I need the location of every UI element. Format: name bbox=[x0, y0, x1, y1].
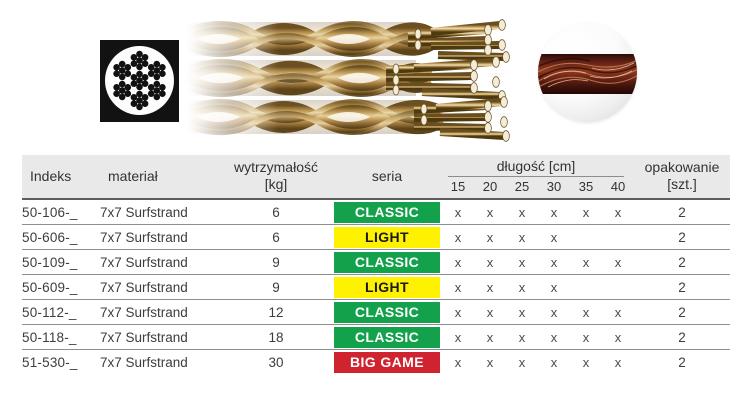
header-length-tick-30: 30 bbox=[538, 179, 570, 194]
length-mark-empty bbox=[570, 230, 602, 245]
cell-material: 7x7 Surfstrand bbox=[100, 225, 220, 250]
header-series: seria bbox=[332, 155, 442, 199]
cross-section-strands-icon bbox=[100, 40, 179, 122]
cell-material: 7x7 Surfstrand bbox=[100, 199, 220, 225]
length-mark-available: x bbox=[474, 330, 506, 345]
cell-index: 51-530-_ bbox=[22, 350, 100, 375]
length-mark-available: x bbox=[538, 330, 570, 345]
cell-series: CLASSIC bbox=[332, 199, 442, 225]
cell-packaging: 2 bbox=[634, 199, 730, 225]
length-mark-empty bbox=[570, 280, 602, 295]
series-badge: CLASSIC bbox=[334, 302, 440, 323]
cell-material: 7x7 Surfstrand bbox=[100, 325, 220, 350]
cell-packaging: 2 bbox=[634, 275, 730, 300]
cell-packaging: 2 bbox=[634, 300, 730, 325]
length-availability-row: xxxx bbox=[442, 280, 634, 295]
length-mark-available: x bbox=[538, 305, 570, 320]
cell-series: LIGHT bbox=[332, 225, 442, 250]
header-length-title: długość [cm] bbox=[448, 155, 624, 177]
table-row: 51-530-_7x7 Surfstrand30BIG GAMExxxxxx2 bbox=[22, 350, 730, 375]
cell-strength: 18 bbox=[220, 325, 332, 350]
cell-index: 50-609-_ bbox=[22, 275, 100, 300]
length-mark-available: x bbox=[506, 205, 538, 220]
length-mark-available: x bbox=[474, 230, 506, 245]
length-mark-available: x bbox=[442, 205, 474, 220]
cell-series: CLASSIC bbox=[332, 325, 442, 350]
length-mark-available: x bbox=[442, 280, 474, 295]
series-badge: CLASSIC bbox=[334, 202, 440, 223]
cell-series: LIGHT bbox=[332, 275, 442, 300]
cell-lengths: xxxxxx bbox=[442, 350, 634, 375]
header-packaging: opakowanie [szt.] bbox=[634, 155, 730, 199]
cell-index: 50-106-_ bbox=[22, 199, 100, 225]
braided-rope-illustration bbox=[186, 12, 516, 148]
cell-strength: 30 bbox=[220, 350, 332, 375]
cell-lengths: xxxxxx bbox=[442, 250, 634, 275]
cell-material: 7x7 Surfstrand bbox=[100, 300, 220, 325]
hero-image-band bbox=[0, 0, 750, 152]
table-row: 50-118-_7x7 Surfstrand18CLASSICxxxxxx2 bbox=[22, 325, 730, 350]
header-length-ticks: 15 20 25 30 35 40 bbox=[442, 177, 634, 198]
length-mark-available: x bbox=[538, 355, 570, 370]
cell-lengths: xxxxxx bbox=[442, 199, 634, 225]
length-availability-row: xxxx bbox=[442, 230, 634, 245]
length-mark-available: x bbox=[506, 305, 538, 320]
length-mark-available: x bbox=[570, 255, 602, 270]
length-mark-available: x bbox=[506, 280, 538, 295]
length-mark-available: x bbox=[538, 205, 570, 220]
cell-series: CLASSIC bbox=[332, 300, 442, 325]
table-row: 50-609-_7x7 Surfstrand9LIGHTxxxx2 bbox=[22, 275, 730, 300]
series-badge: CLASSIC bbox=[334, 327, 440, 348]
table-row: 50-109-_7x7 Surfstrand9CLASSICxxxxxx2 bbox=[22, 250, 730, 275]
length-mark-available: x bbox=[538, 230, 570, 245]
length-mark-available: x bbox=[602, 255, 634, 270]
header-strength: wytrzymałość [kg] bbox=[220, 155, 332, 199]
length-mark-available: x bbox=[474, 305, 506, 320]
cell-strength: 12 bbox=[220, 300, 332, 325]
wire-closeup-band bbox=[538, 54, 637, 94]
length-mark-available: x bbox=[442, 255, 474, 270]
length-mark-available: x bbox=[474, 355, 506, 370]
cell-packaging: 2 bbox=[634, 350, 730, 375]
header-index: Indeks bbox=[22, 155, 100, 199]
length-mark-available: x bbox=[570, 305, 602, 320]
cell-material: 7x7 Surfstrand bbox=[100, 275, 220, 300]
table-row: 50-106-_7x7 Surfstrand6CLASSICxxxxxx2 bbox=[22, 199, 730, 225]
cell-lengths: xxxxxx bbox=[442, 300, 634, 325]
header-packaging-line1: opakowanie bbox=[645, 159, 720, 175]
series-badge: CLASSIC bbox=[334, 252, 440, 273]
length-availability-row: xxxxxx bbox=[442, 330, 634, 345]
cell-index: 50-118-_ bbox=[22, 325, 100, 350]
length-mark-empty bbox=[602, 230, 634, 245]
length-mark-available: x bbox=[570, 355, 602, 370]
header-series-label: seria bbox=[332, 164, 442, 190]
length-mark-available: x bbox=[506, 230, 538, 245]
header-length-tick-40: 40 bbox=[602, 179, 634, 194]
length-availability-row: xxxxxx bbox=[442, 355, 634, 370]
length-mark-available: x bbox=[474, 255, 506, 270]
length-mark-available: x bbox=[506, 355, 538, 370]
header-length-group: długość [cm] 15 20 25 30 35 40 bbox=[442, 155, 634, 199]
header-packaging-line2: [szt.] bbox=[667, 176, 697, 192]
series-badge: LIGHT bbox=[334, 277, 440, 298]
length-mark-available: x bbox=[538, 255, 570, 270]
cell-index: 50-109-_ bbox=[22, 250, 100, 275]
cell-material: 7x7 Surfstrand bbox=[100, 350, 220, 375]
cell-index: 50-606-_ bbox=[22, 225, 100, 250]
header-length-tick-35: 35 bbox=[570, 179, 602, 194]
header-index-label: Indeks bbox=[22, 164, 100, 190]
cell-strength: 6 bbox=[220, 199, 332, 225]
wire-closeup-photo-inset bbox=[538, 23, 637, 122]
cell-series: BIG GAME bbox=[332, 350, 442, 375]
length-mark-empty bbox=[602, 280, 634, 295]
header-packaging-label: opakowanie [szt.] bbox=[634, 155, 730, 197]
cell-packaging: 2 bbox=[634, 250, 730, 275]
length-mark-available: x bbox=[602, 305, 634, 320]
length-mark-available: x bbox=[506, 330, 538, 345]
header-strength-label: wytrzymałość [kg] bbox=[220, 155, 332, 197]
length-mark-available: x bbox=[602, 205, 634, 220]
cell-strength: 9 bbox=[220, 275, 332, 300]
header-length-tick-20: 20 bbox=[474, 179, 506, 194]
length-mark-available: x bbox=[602, 330, 634, 345]
length-availability-row: xxxxxx bbox=[442, 255, 634, 270]
length-mark-available: x bbox=[442, 305, 474, 320]
length-mark-available: x bbox=[570, 205, 602, 220]
length-mark-available: x bbox=[442, 330, 474, 345]
table-header-row: Indeks materiał wytrzymałość [kg] seria bbox=[22, 155, 730, 199]
length-availability-row: xxxxxx bbox=[442, 205, 634, 220]
table-row: 50-112-_7x7 Surfstrand12CLASSICxxxxxx2 bbox=[22, 300, 730, 325]
table-body: 50-106-_7x7 Surfstrand6CLASSICxxxxxx250-… bbox=[22, 199, 730, 374]
length-mark-available: x bbox=[506, 255, 538, 270]
length-mark-available: x bbox=[538, 280, 570, 295]
header-strength-line2: [kg] bbox=[265, 176, 288, 192]
cell-strength: 9 bbox=[220, 250, 332, 275]
length-mark-available: x bbox=[474, 205, 506, 220]
cell-strength: 6 bbox=[220, 225, 332, 250]
specification-table: Indeks materiał wytrzymałość [kg] seria bbox=[22, 155, 730, 374]
header-length-tick-25: 25 bbox=[506, 179, 538, 194]
header-material: materiał bbox=[100, 155, 220, 199]
header-length-tick-15: 15 bbox=[442, 179, 474, 194]
cell-series: CLASSIC bbox=[332, 250, 442, 275]
length-mark-available: x bbox=[570, 330, 602, 345]
cell-lengths: xxxx bbox=[442, 225, 634, 250]
series-badge: BIG GAME bbox=[334, 352, 440, 373]
cell-index: 50-112-_ bbox=[22, 300, 100, 325]
header-strength-line1: wytrzymałość bbox=[234, 159, 318, 175]
cross-section-icon bbox=[100, 40, 179, 122]
length-mark-available: x bbox=[602, 355, 634, 370]
header-material-label: materiał bbox=[100, 164, 220, 190]
length-mark-available: x bbox=[474, 280, 506, 295]
cell-lengths: xxxx bbox=[442, 275, 634, 300]
cell-material: 7x7 Surfstrand bbox=[100, 250, 220, 275]
cell-packaging: 2 bbox=[634, 225, 730, 250]
length-mark-available: x bbox=[442, 230, 474, 245]
length-availability-row: xxxxxx bbox=[442, 305, 634, 320]
cell-lengths: xxxxxx bbox=[442, 325, 634, 350]
table-row: 50-606-_7x7 Surfstrand6LIGHTxxxx2 bbox=[22, 225, 730, 250]
series-badge: LIGHT bbox=[334, 227, 440, 248]
length-mark-available: x bbox=[442, 355, 474, 370]
cell-packaging: 2 bbox=[634, 325, 730, 350]
